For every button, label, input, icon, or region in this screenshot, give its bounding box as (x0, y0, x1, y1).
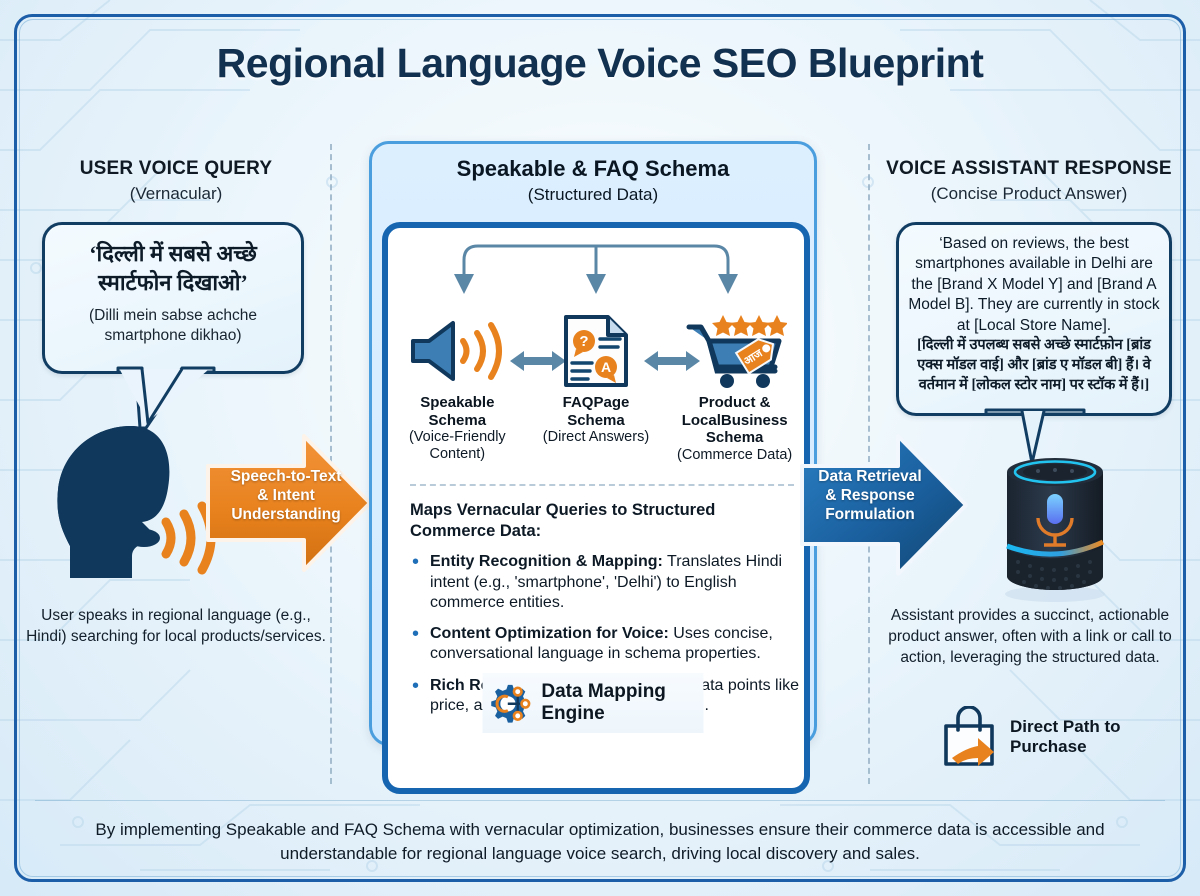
schema-icon-row: Speakable Schema (Voice-Friendly Content… (388, 314, 804, 464)
center-subheading-text: (Structured Data) (372, 185, 814, 205)
direct-path-line2: Purchase (1010, 737, 1121, 757)
center-body-lead: Maps Vernacular Queries to Structured Co… (410, 500, 802, 542)
schema-speakable-name-l2: Schema (391, 412, 523, 430)
schema-faqpage-name-l2: Schema (530, 412, 662, 430)
shopping-cart-stars-icon: आज (669, 314, 801, 388)
schema-product-sub: (Commerce Data) (669, 447, 801, 464)
footer-divider (35, 800, 1165, 801)
gear-datamapping-icon (491, 677, 532, 729)
user-query-transliteration-text: (Dilli mein sabse achche smartphone dikh… (57, 306, 289, 346)
data-retrieval-arrow (796, 428, 971, 583)
schema-speakable-name: Speakable Schema (391, 394, 523, 429)
schema-speakable-sub-l2: Content) (391, 446, 523, 463)
schema-speakable-sub-l1: (Voice-Friendly (391, 429, 523, 446)
data-mapping-engine-label: Data Mapping Engine (541, 681, 687, 725)
user-query-native-text: ‘दिल्ली में सबसे अच्छे स्मार्टफोन दिखाओ’ (57, 239, 289, 297)
schema-product-name: Product & LocalBusiness Schema (669, 394, 801, 447)
right-heading-text: VOICE ASSISTANT RESPONSE (874, 158, 1184, 180)
schema-product-name-l1: Product & (669, 394, 801, 412)
smart-speaker-icon (990, 450, 1120, 602)
left-caption: User speaks in regional language (e.g., … (26, 606, 326, 648)
page-title: Regional Language Voice SEO Blueprint (0, 40, 1200, 87)
right-column-heading: VOICE ASSISTANT RESPONSE (Concise Produc… (874, 158, 1184, 204)
schema-product-name-l2: LocalBusiness (669, 412, 801, 430)
direct-path-to-purchase: Direct Path to Purchase (940, 706, 1121, 768)
infographic-canvas: Regional Language Voice SEO Blueprint US… (0, 0, 1200, 896)
schema-faqpage-sub-l1: (Direct Answers) (530, 429, 662, 446)
list-item: Entity Recognition & Mapping: Translates… (410, 552, 802, 613)
center-card-divider (410, 484, 794, 486)
footer-summary-text: By implementing Speakable and FAQ Schema… (90, 818, 1110, 866)
faq-document-icon: ? A (530, 314, 662, 388)
center-heading-text: Speakable & FAQ Schema (372, 156, 814, 182)
center-panel-heading: Speakable & FAQ Schema (Structured Data) (372, 156, 814, 205)
center-body-lead-l2: Commerce Data: (410, 521, 802, 542)
data-mapping-engine-badge: Data Mapping Engine (483, 673, 704, 733)
schema-product-name-l3: Schema (669, 429, 801, 447)
schema-distribution-arrows (388, 232, 804, 314)
bullet-1-term: Content Optimization for Voice: (430, 625, 669, 642)
center-body-lead-l1: Maps Vernacular Queries to Structured (410, 500, 802, 521)
svg-text:A: A (601, 359, 611, 375)
direct-path-line1: Direct Path to (1010, 717, 1121, 737)
list-item: Content Optimization for Voice: Uses con… (410, 624, 802, 665)
schema-speakable-name-l1: Speakable (391, 394, 523, 412)
user-query-speech-bubble: ‘दिल्ली में सबसे अच्छे स्मार्टफोन दिखाओ’… (42, 222, 304, 374)
shopping-bag-arrow-icon (940, 706, 998, 768)
left-column-heading: USER VOICE QUERY (Vernacular) (26, 158, 326, 204)
schema-item-speakable: Speakable Schema (Voice-Friendly Content… (391, 314, 523, 464)
left-heading-text: USER VOICE QUERY (26, 158, 326, 180)
assistant-response-speech-bubble: ‘Based on reviews, the best smartphones … (896, 222, 1172, 416)
svg-text:?: ? (579, 333, 588, 350)
right-subheading-text: (Concise Product Answer) (874, 184, 1184, 204)
schema-speakable-sub: (Voice-Friendly Content) (391, 429, 523, 463)
right-caption: Assistant provides a succinct, actionabl… (878, 606, 1182, 668)
schema-faqpage-name-l1: FAQPage (530, 394, 662, 412)
bullet-0-term: Entity Recognition & Mapping: (430, 553, 663, 570)
speech-to-text-arrow (200, 428, 375, 578)
speaker-sound-icon (391, 314, 523, 388)
assistant-answer-english-text: ‘Based on reviews, the best smartphones … (908, 234, 1160, 336)
left-subheading-text: (Vernacular) (26, 184, 326, 204)
schema-product-sub-l1: (Commerce Data) (669, 447, 801, 464)
direct-path-label: Direct Path to Purchase (1010, 717, 1121, 758)
schema-item-faqpage: ? A FAQPage Schema (530, 314, 662, 446)
center-schema-panel: Speakable & FAQ Schema (Structured Data) (369, 141, 817, 746)
schema-item-product-localbusiness: आज Product & LocalBusiness Schema (Comme… (669, 314, 801, 464)
schema-faqpage-name: FAQPage Schema (530, 394, 662, 429)
schema-faqpage-sub: (Direct Answers) (530, 429, 662, 446)
assistant-answer-native-text: [दिल्ली में उपलब्ध सबसे अच्छे स्मार्टफ़ो… (908, 336, 1160, 395)
